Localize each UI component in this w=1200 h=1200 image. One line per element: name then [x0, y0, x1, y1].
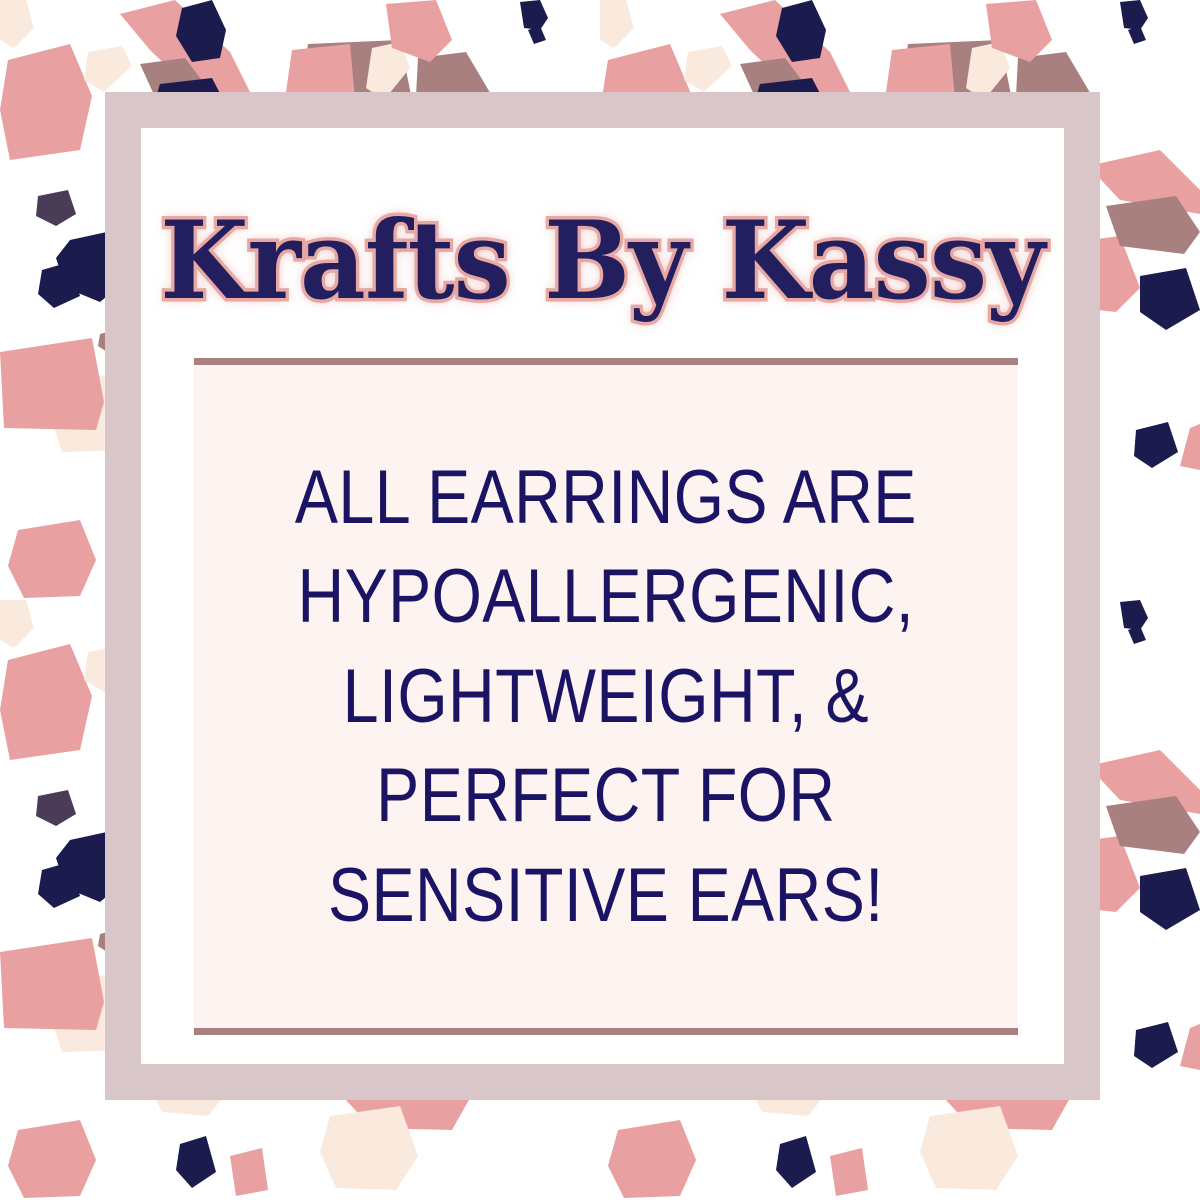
message-panel: ALL EARRINGS ARE HYPOALLERGENIC, LIGHTWE… [194, 365, 1018, 1028]
frame-inner-surface: Krafts By Kassy ALL EARRINGS ARE HYPOALL… [141, 128, 1064, 1064]
message-text: ALL EARRINGS ARE HYPOALLERGENIC, LIGHTWE… [295, 448, 917, 946]
brand-logo: Krafts By Kassy [141, 170, 1064, 352]
divider-rule-top [194, 358, 1018, 365]
poster-canvas: Krafts By Kassy ALL EARRINGS ARE HYPOALL… [0, 0, 1200, 1200]
brand-logo-text: Krafts By Kassy [161, 207, 1045, 315]
decorative-frame: Krafts By Kassy ALL EARRINGS ARE HYPOALL… [105, 92, 1100, 1100]
divider-rule-bottom [194, 1028, 1018, 1035]
